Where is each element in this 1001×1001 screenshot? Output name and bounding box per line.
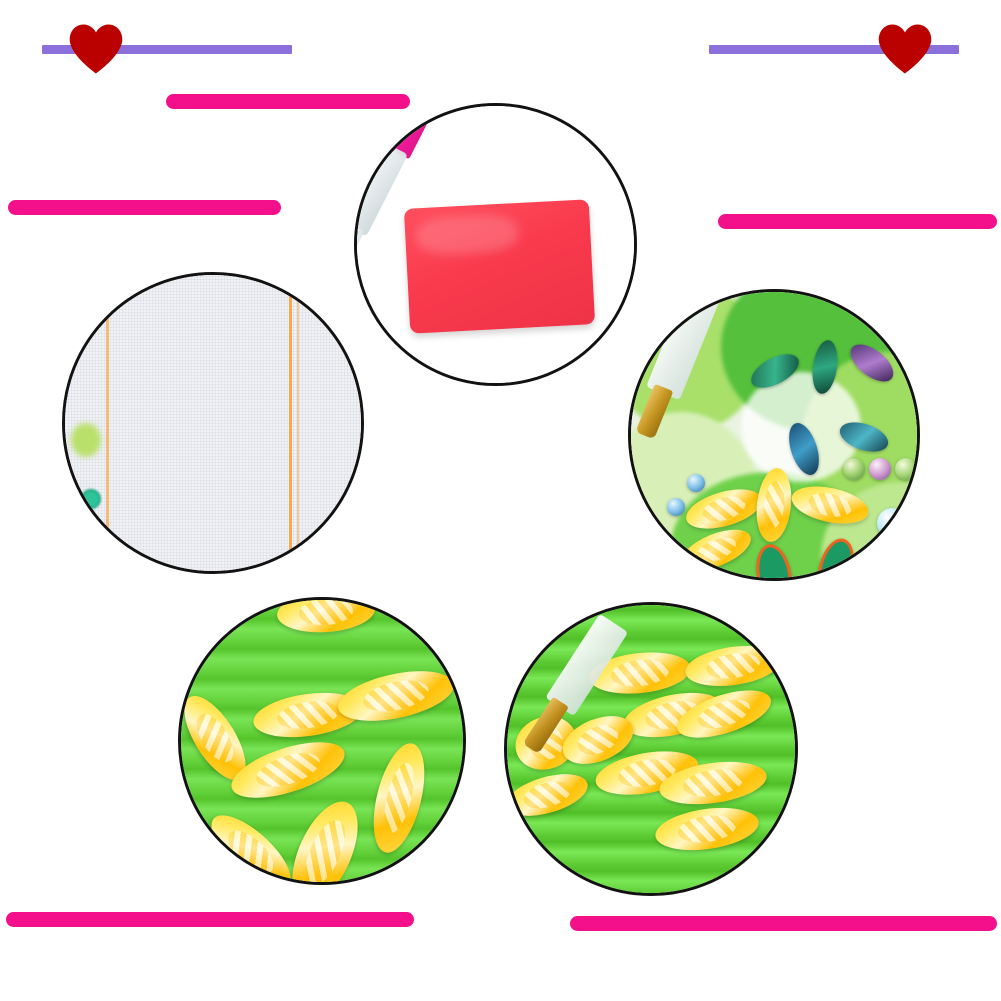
heart-icon bbox=[877, 22, 933, 76]
canvas-speck bbox=[81, 489, 101, 509]
step-label-4 bbox=[570, 916, 997, 931]
canvas-guide-line bbox=[289, 275, 292, 571]
heart-icon bbox=[68, 22, 124, 76]
canvas-speck bbox=[71, 423, 101, 457]
step-label-2 bbox=[8, 200, 281, 215]
photo-placing-diamond bbox=[628, 289, 920, 581]
step-label-3 bbox=[6, 912, 414, 927]
photo-color-chart bbox=[62, 272, 364, 574]
photo-diamonds-in-tray bbox=[178, 597, 466, 885]
step-label-5 bbox=[718, 214, 997, 229]
gel-pad bbox=[404, 199, 595, 334]
header-banner bbox=[0, 0, 1001, 90]
canvas-guide-line bbox=[297, 275, 299, 571]
photo-pen-in-gel bbox=[354, 103, 637, 386]
step-label-1 bbox=[166, 94, 410, 109]
photo-pen-picking-diamond bbox=[504, 602, 798, 896]
canvas-guide-line bbox=[106, 275, 109, 571]
